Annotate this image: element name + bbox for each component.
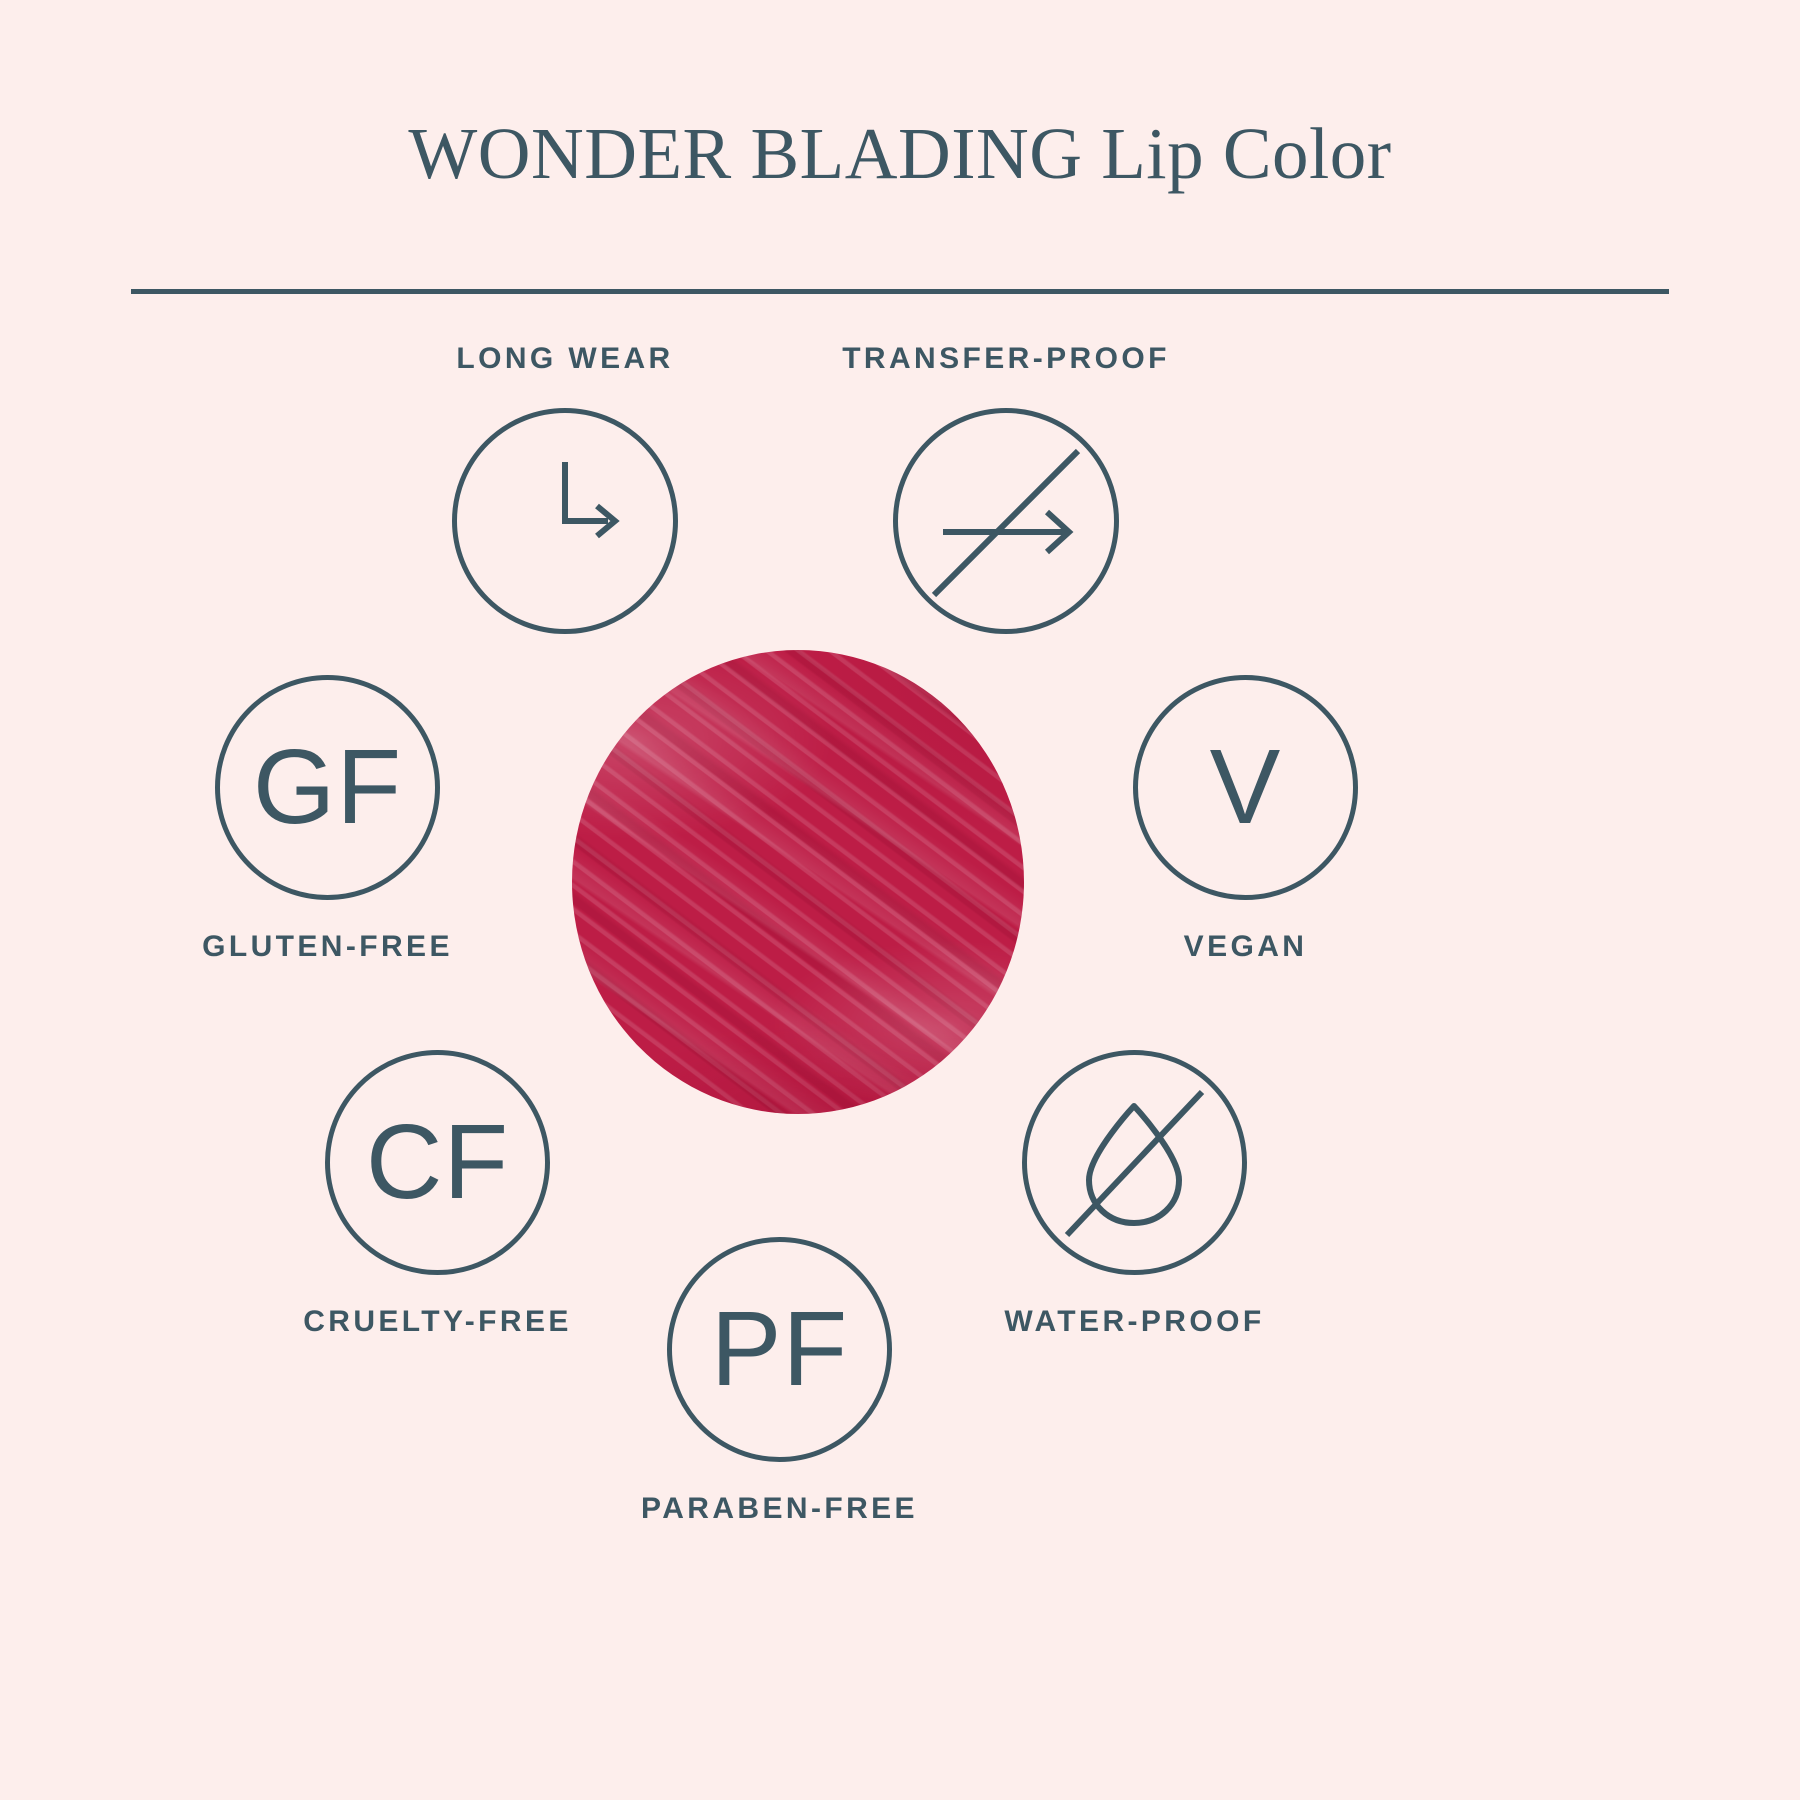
- badge-transfer-proof: TRANSFER-PROOF: [893, 408, 1119, 634]
- badge-gluten-free: GF GLUTEN-FREE: [215, 675, 440, 900]
- pf-letters-icon: PF: [667, 1237, 892, 1462]
- no-water-droplet-icon: [1022, 1050, 1247, 1275]
- clock-arrow-icon: [452, 408, 678, 634]
- infographic-canvas: WONDER BLADING Lip Color LONG WEAR TRANS…: [0, 0, 1800, 1800]
- badge-caption-paraben-free: PARABEN-FREE: [480, 1492, 1080, 1526]
- v-letter-icon: V: [1133, 675, 1358, 900]
- badge-water-proof: WATER-PROOF: [1022, 1050, 1247, 1275]
- title-divider: [131, 289, 1669, 294]
- badge-paraben-free: PF PARABEN-FREE: [667, 1237, 892, 1462]
- swatch-texture-blotch: [572, 650, 1024, 1114]
- cf-letters-icon: CF: [325, 1050, 550, 1275]
- badge-caption-cruelty-free: CRUELTY-FREE: [138, 1305, 738, 1339]
- lip-color-swatch: [572, 650, 1024, 1114]
- gf-letters-icon: GF: [215, 675, 440, 900]
- badge-caption-water-proof: WATER-PROOF: [835, 1305, 1435, 1339]
- badge-caption-gluten-free: GLUTEN-FREE: [28, 930, 628, 964]
- page-title: WONDER BLADING Lip Color: [0, 112, 1800, 196]
- badge-caption-transfer-proof: TRANSFER-PROOF: [706, 342, 1306, 376]
- badge-cruelty-free: CF CRUELTY-FREE: [325, 1050, 550, 1275]
- badge-caption-vegan: VEGAN: [946, 930, 1546, 964]
- badge-long-wear: LONG WEAR: [452, 408, 678, 634]
- no-transfer-arrow-icon: [893, 408, 1119, 634]
- badge-vegan: V VEGAN: [1133, 675, 1358, 900]
